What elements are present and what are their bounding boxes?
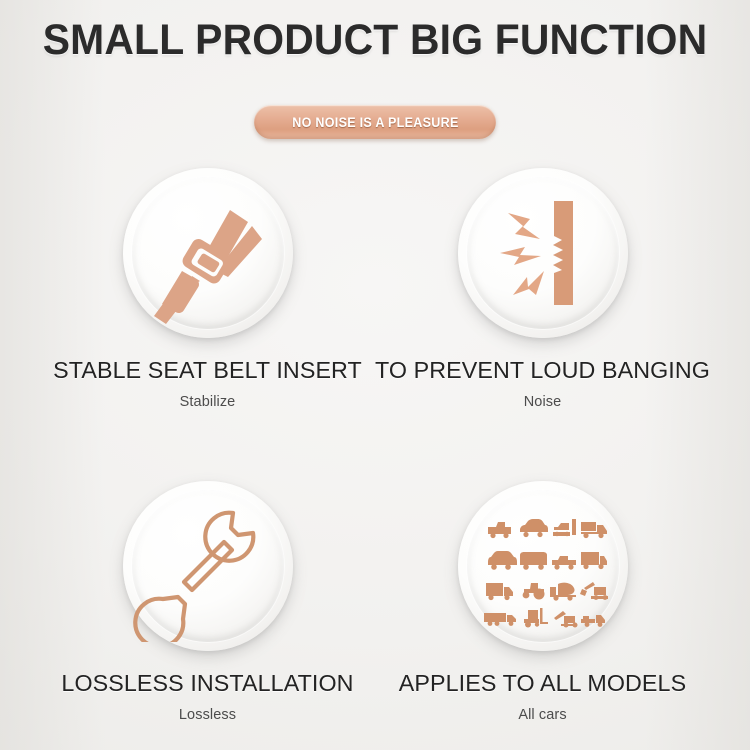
page-title: SMALL PRODUCT BIG FUNCTION <box>19 16 732 65</box>
feature-cell-installation[interactable]: LOSSLESS INSTALLATION Lossless <box>20 481 395 723</box>
vehicle-tow-truck <box>554 611 578 628</box>
icon-disc <box>458 481 628 651</box>
vehicle-forklift <box>524 608 548 628</box>
promo-poster: SMALL PRODUCT BIG FUNCTION NO NOISE IS A… <box>0 0 750 750</box>
seat-belt-buckle-icon <box>132 177 284 329</box>
vehicle-sedan-car <box>520 519 548 537</box>
feature-subtitle: Stabilize <box>20 394 395 410</box>
status-badge: NO NOISE IS A PLEASURE <box>254 105 496 139</box>
icon-disc <box>123 168 293 338</box>
vehicle-cement-mixer <box>550 583 576 601</box>
icon-disc <box>123 481 293 651</box>
feature-title: APPLIES TO ALL MODELS <box>357 670 728 697</box>
feature-title: LOSSLESS INSTALLATION <box>22 670 393 697</box>
feature-title: TO PREVENT LOUD BANGING <box>357 357 728 384</box>
status-badge-label: NO NOISE IS A PLEASURE <box>292 115 458 130</box>
wrench-icon <box>132 490 284 642</box>
feature-cell-models[interactable]: APPLIES TO ALL MODELS All cars <box>355 481 730 723</box>
feature-subtitle: Lossless <box>20 707 395 723</box>
vehicle-jeep <box>552 556 576 570</box>
feature-cell-noise[interactable]: TO PREVENT LOUD BANGING Noise <box>355 168 730 410</box>
icon-disc <box>458 168 628 338</box>
feature-cell-seat-belt[interactable]: STABLE SEAT BELT INSERT Stabilize <box>20 168 395 410</box>
feature-subtitle: Noise <box>355 394 730 410</box>
vehicle-flatbed-truck <box>581 615 605 627</box>
cracked-bar-icon <box>553 201 573 305</box>
vehicle-dump-truck <box>581 522 607 538</box>
feature-subtitle: All cars <box>355 707 730 723</box>
vehicle-bulldozer <box>553 519 576 536</box>
vehicle-van <box>520 552 547 570</box>
vehicle-suv <box>488 551 517 570</box>
lightning-bolts-impact-icon <box>467 177 619 329</box>
vehicle-box-truck <box>486 583 513 600</box>
vehicle-grid-icon <box>467 490 619 642</box>
vehicle-semi-trailer <box>484 613 516 626</box>
vehicle-excavator <box>580 582 608 600</box>
vehicle-box-van <box>581 552 607 569</box>
vehicle-pickup-truck <box>488 522 511 538</box>
vehicle-tractor <box>522 583 544 600</box>
feature-title: STABLE SEAT BELT INSERT <box>22 357 393 384</box>
